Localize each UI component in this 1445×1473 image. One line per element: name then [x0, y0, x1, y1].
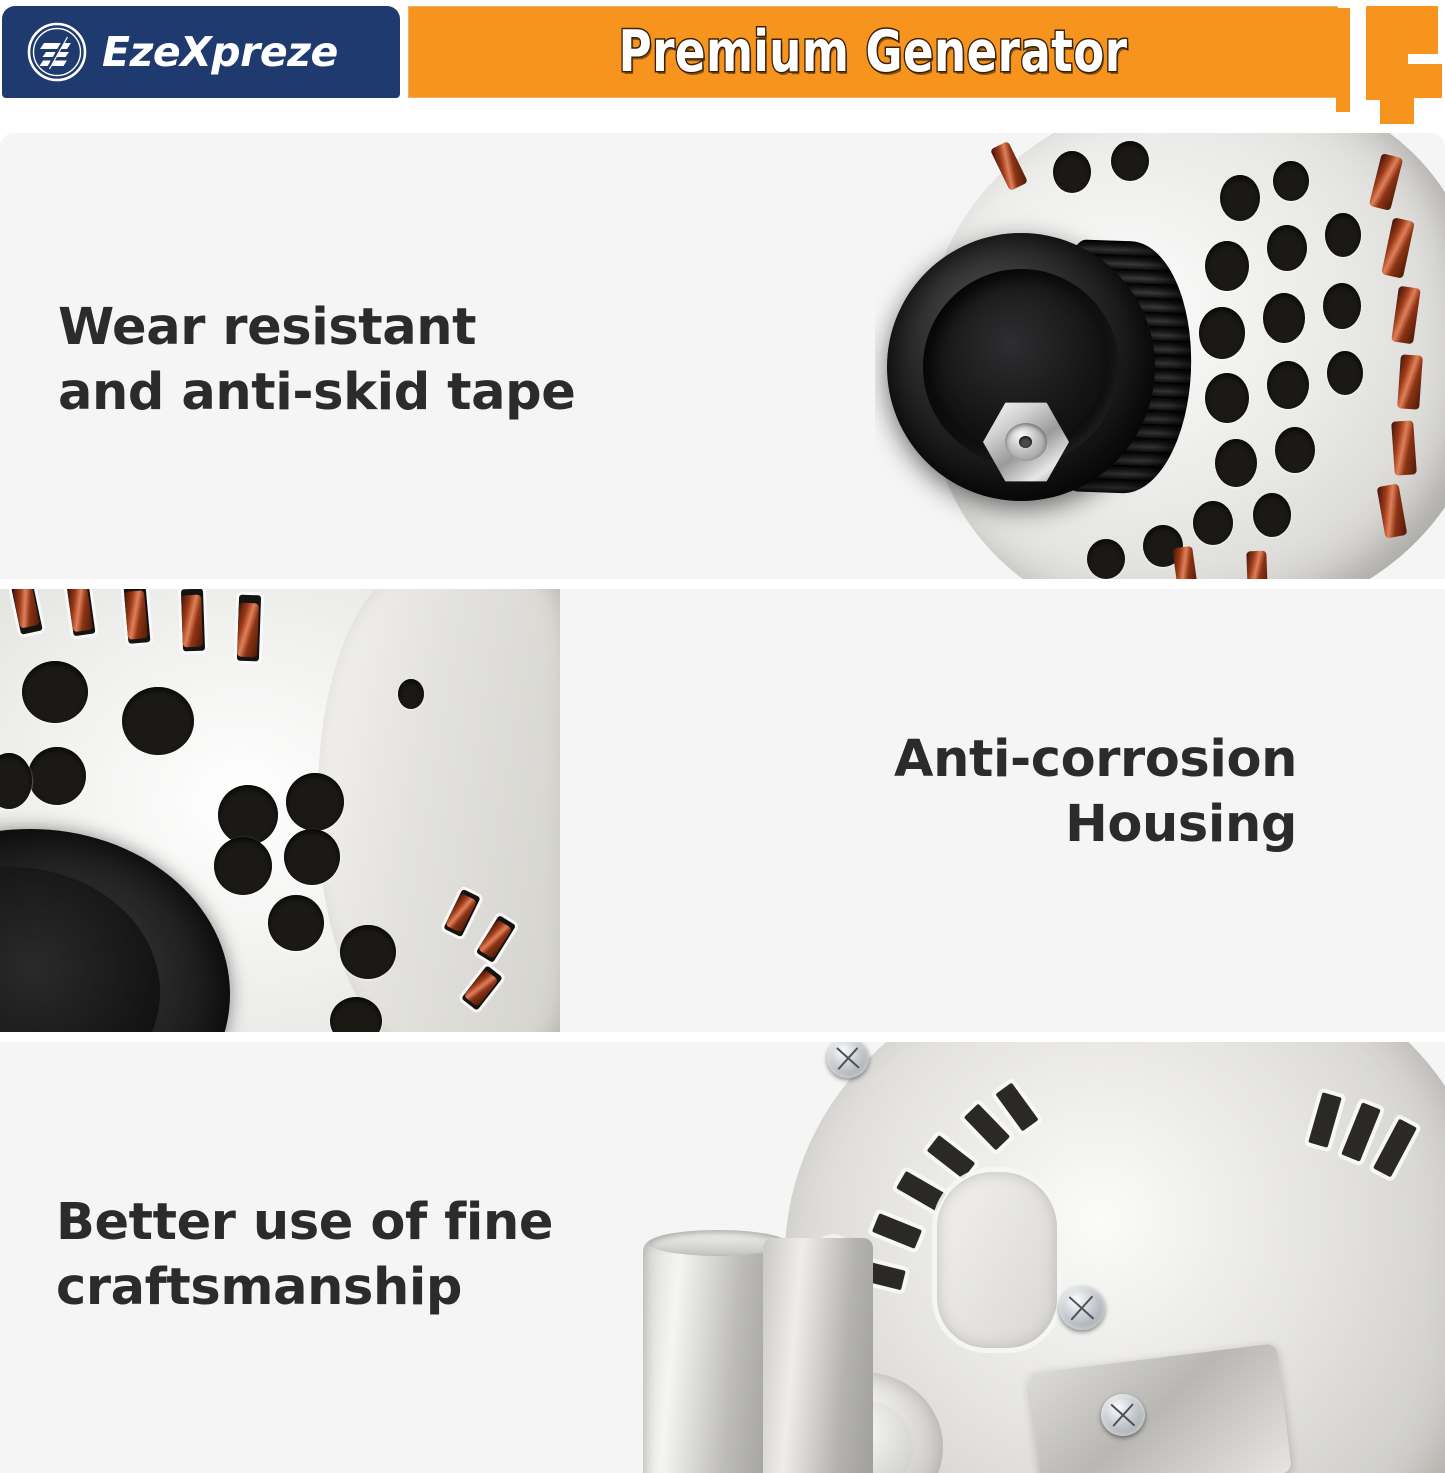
- banner-title-text: Premium Generator: [619, 24, 1128, 81]
- pixel-blocks-decoration-icon: [1336, 2, 1445, 124]
- vent-hole: [398, 679, 424, 709]
- caption-3-line-1: Better use of fine: [56, 1190, 553, 1255]
- bracket-oval-pad: [937, 1172, 1057, 1348]
- vent-hole: [1267, 225, 1307, 271]
- decor-block-a: [1366, 6, 1438, 54]
- vent-hole: [28, 747, 86, 805]
- caption-1-line-1: Wear resistant: [58, 295, 575, 360]
- caption-2-line-1: Anti-corrosion: [894, 727, 1297, 792]
- vent-hole: [1087, 539, 1125, 579]
- feature-caption-1: Wear resistant and anti-skid tape: [58, 295, 575, 426]
- header-banner: EzeXpreze Premium Generator: [0, 0, 1445, 120]
- phillips-screw: [1059, 1286, 1105, 1330]
- vent-hole: [122, 687, 194, 755]
- copper-winding: [124, 590, 148, 640]
- z-monogram-circle-icon: [26, 21, 88, 83]
- vent-hole: [268, 895, 324, 951]
- vent-hole: [1323, 283, 1361, 329]
- alternator-pulley-closeup-photo: [875, 133, 1445, 579]
- caption-2-line-2: Housing: [894, 792, 1297, 857]
- vent-hole: [1275, 427, 1315, 473]
- vent-hole: [1220, 175, 1260, 221]
- vent-hole: [1193, 501, 1233, 545]
- vent-hole: [1199, 307, 1245, 359]
- vent-hole: [284, 829, 340, 885]
- phillips-screw: [1101, 1394, 1145, 1436]
- vent-hole: [1053, 151, 1091, 193]
- decor-bar: [1336, 8, 1350, 112]
- vent-hole: [1327, 351, 1363, 395]
- copper-winding: [1397, 354, 1423, 409]
- vent-hole: [1273, 161, 1309, 201]
- alternator-mounting-bracket-photo: [615, 1042, 1445, 1473]
- copper-winding: [1246, 551, 1267, 579]
- vent-hole: [1263, 293, 1305, 343]
- shaft-bolt-head: [1005, 423, 1047, 461]
- copper-winding: [1391, 420, 1417, 475]
- vent-hole: [1253, 493, 1291, 537]
- product-feature-infographic: EzeXpreze Premium Generator: [0, 0, 1445, 1473]
- vent-hole: [1111, 141, 1149, 181]
- pulley-outer-ring: [887, 233, 1155, 501]
- caption-1-line-2: and anti-skid tape: [58, 360, 575, 425]
- vent-hole: [1205, 241, 1249, 291]
- brand-logo-box: EzeXpreze: [2, 6, 400, 98]
- vent-hole: [1205, 373, 1249, 423]
- vent-hole: [1267, 361, 1309, 409]
- caption-3-line-2: craftsmanship: [56, 1255, 553, 1320]
- decor-square-2: [1380, 92, 1414, 124]
- feature-caption-2: Anti-corrosion Housing: [894, 727, 1297, 858]
- copper-winding: [181, 595, 203, 648]
- vent-hole: [22, 661, 88, 723]
- alternator-housing-closeup-photo: [0, 589, 560, 1032]
- brand-name-text: EzeXpreze: [102, 32, 338, 73]
- vent-hole: [1215, 439, 1257, 487]
- vent-hole: [214, 837, 272, 895]
- title-banner-box: Premium Generator: [408, 6, 1338, 98]
- vent-hole: [286, 773, 344, 831]
- vent-hole: [340, 925, 396, 979]
- copper-winding: [237, 603, 259, 658]
- vent-hole: [1325, 213, 1361, 257]
- bushing-sleeve-back: [763, 1238, 873, 1473]
- feature-caption-3: Better use of fine craftsmanship: [56, 1190, 553, 1321]
- vent-hole: [218, 785, 278, 845]
